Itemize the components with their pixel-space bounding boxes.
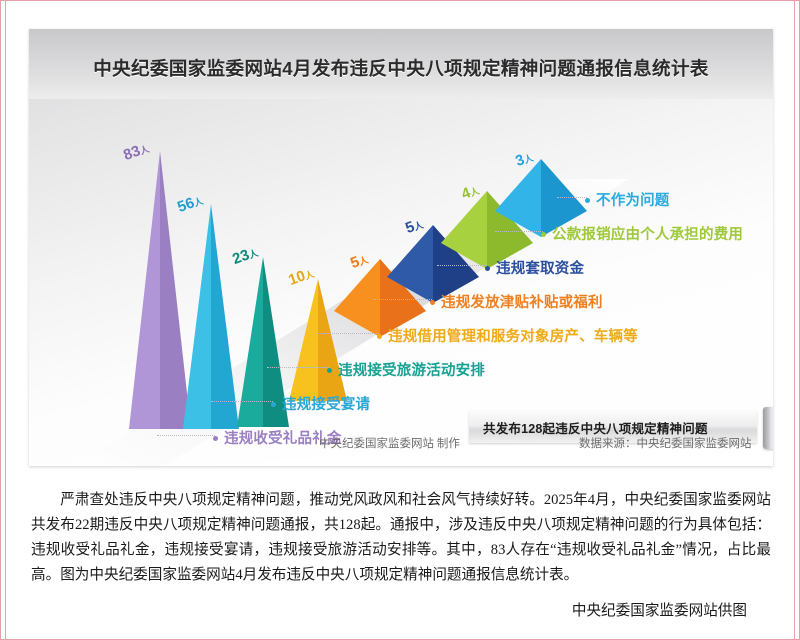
leader-line-0 xyxy=(157,435,215,437)
bullet-dot-4 xyxy=(430,300,435,305)
leader-line-4 xyxy=(374,299,432,301)
bullet-dot-0 xyxy=(213,436,218,441)
leader-line-6 xyxy=(495,231,543,233)
bar-label-6: 公款报销应由个人承担的费用 xyxy=(541,223,743,244)
bar-label-2: 违规接受旅游活动安排 xyxy=(327,359,485,380)
bullet-dot-5 xyxy=(485,266,490,271)
bullet-dot-3 xyxy=(377,334,382,339)
bar-label-1: 违规接受宴请 xyxy=(271,393,370,414)
leader-line-5 xyxy=(437,265,487,267)
bullet-dot-6 xyxy=(541,232,546,237)
source-credit: 数据来源：中央纪委国家监委网站 xyxy=(579,435,752,451)
leader-line-1 xyxy=(211,401,273,403)
leader-line-3 xyxy=(317,333,379,335)
bar-label-3: 违规借用管理和服务对象房产、车辆等 xyxy=(377,325,638,346)
bullet-dot-1 xyxy=(271,402,276,407)
bar-label-7: 不作为问题 xyxy=(585,189,670,210)
article-body: 严肃查处违反中央八项规定精神问题，推动党风政风和社会风气持续好转。2025年4月… xyxy=(31,488,771,588)
page-title: 中央纪委国家监委网站4月发布违反中央八项规定精神问题通报信息统计表 xyxy=(29,55,773,81)
producer-credit: 中央纪委国家监委网站 制作 xyxy=(319,435,460,451)
leader-line-2 xyxy=(267,367,329,369)
article-byline: 中央纪委国家监委网站供图 xyxy=(31,599,771,620)
bar-1 xyxy=(181,204,241,429)
infographic-page: 中央纪委国家监委网站4月发布违反中央八项规定精神问题通报信息统计表 xyxy=(0,0,800,640)
bar-label-4: 违规发放津贴补贴或福利 xyxy=(430,291,603,312)
leader-line-7 xyxy=(557,197,587,199)
bar-label-5: 违规套取资金 xyxy=(485,257,584,278)
bullet-dot-2 xyxy=(327,368,332,373)
bullet-dot-7 xyxy=(585,198,590,203)
chart-panel: 中央纪委国家监委网站4月发布违反中央八项规定精神问题通报信息统计表 xyxy=(29,29,773,466)
banner-roll-end xyxy=(763,407,773,449)
